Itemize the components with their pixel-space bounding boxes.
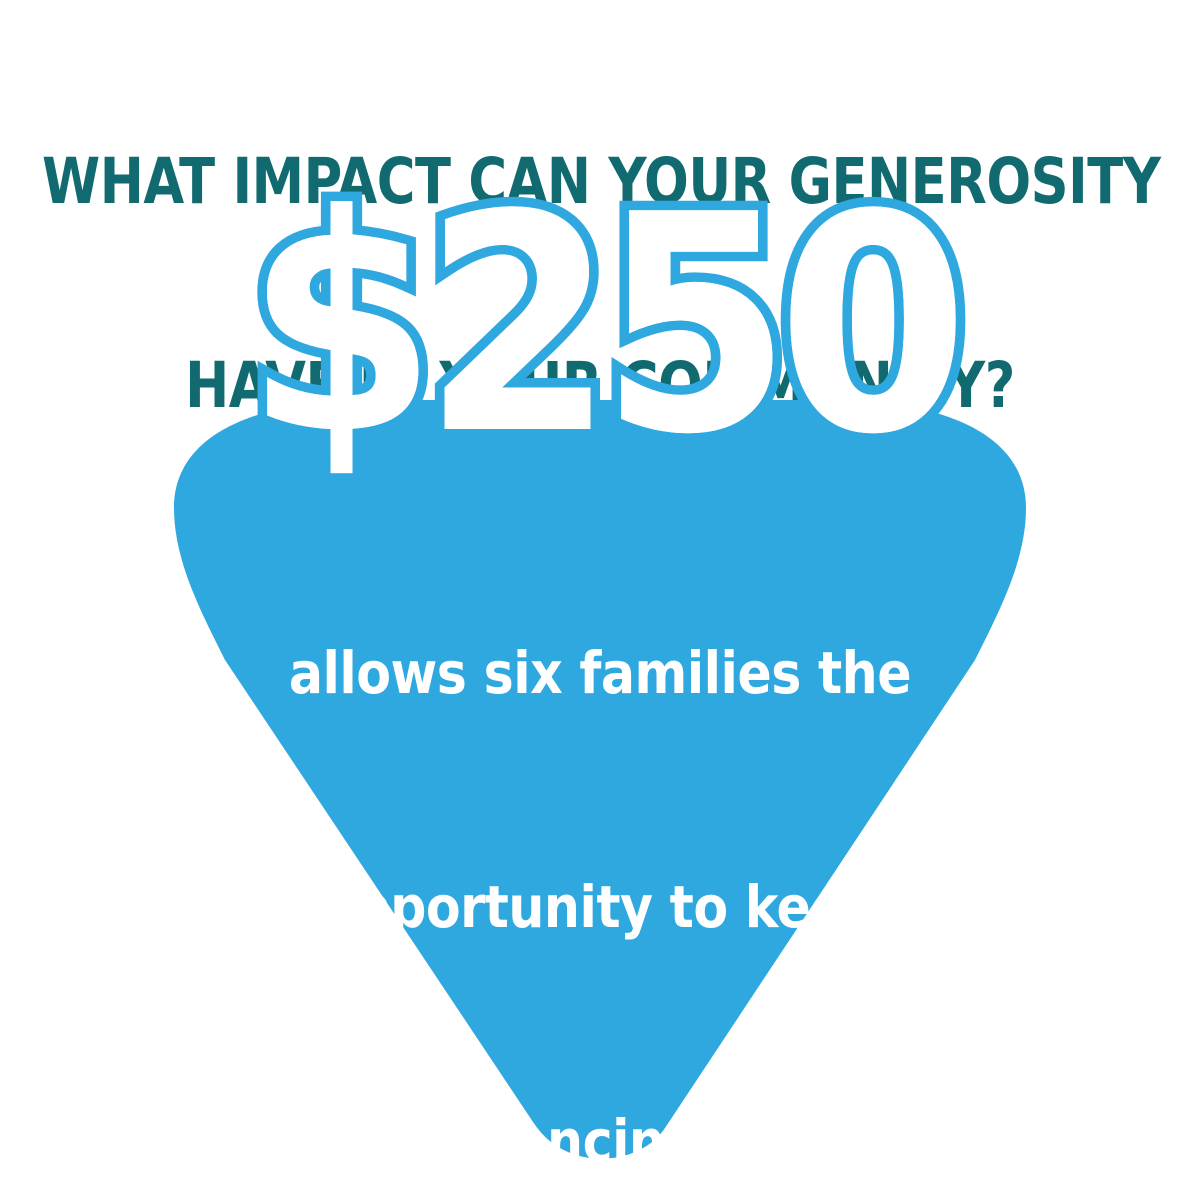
impact-description: allows six families the opportunity to k… <box>18 478 1182 1200</box>
body-line-1: allows six families the <box>18 634 1182 712</box>
infographic-canvas: WHAT IMPACT CAN YOUR GENEROSITY HAVE IN … <box>0 0 1200 1200</box>
body-line-2: opportunity to keep <box>18 868 1182 946</box>
amount-value: $250 <box>0 176 1200 476</box>
body-line-3: experiencing the Y <box>18 1102 1182 1180</box>
